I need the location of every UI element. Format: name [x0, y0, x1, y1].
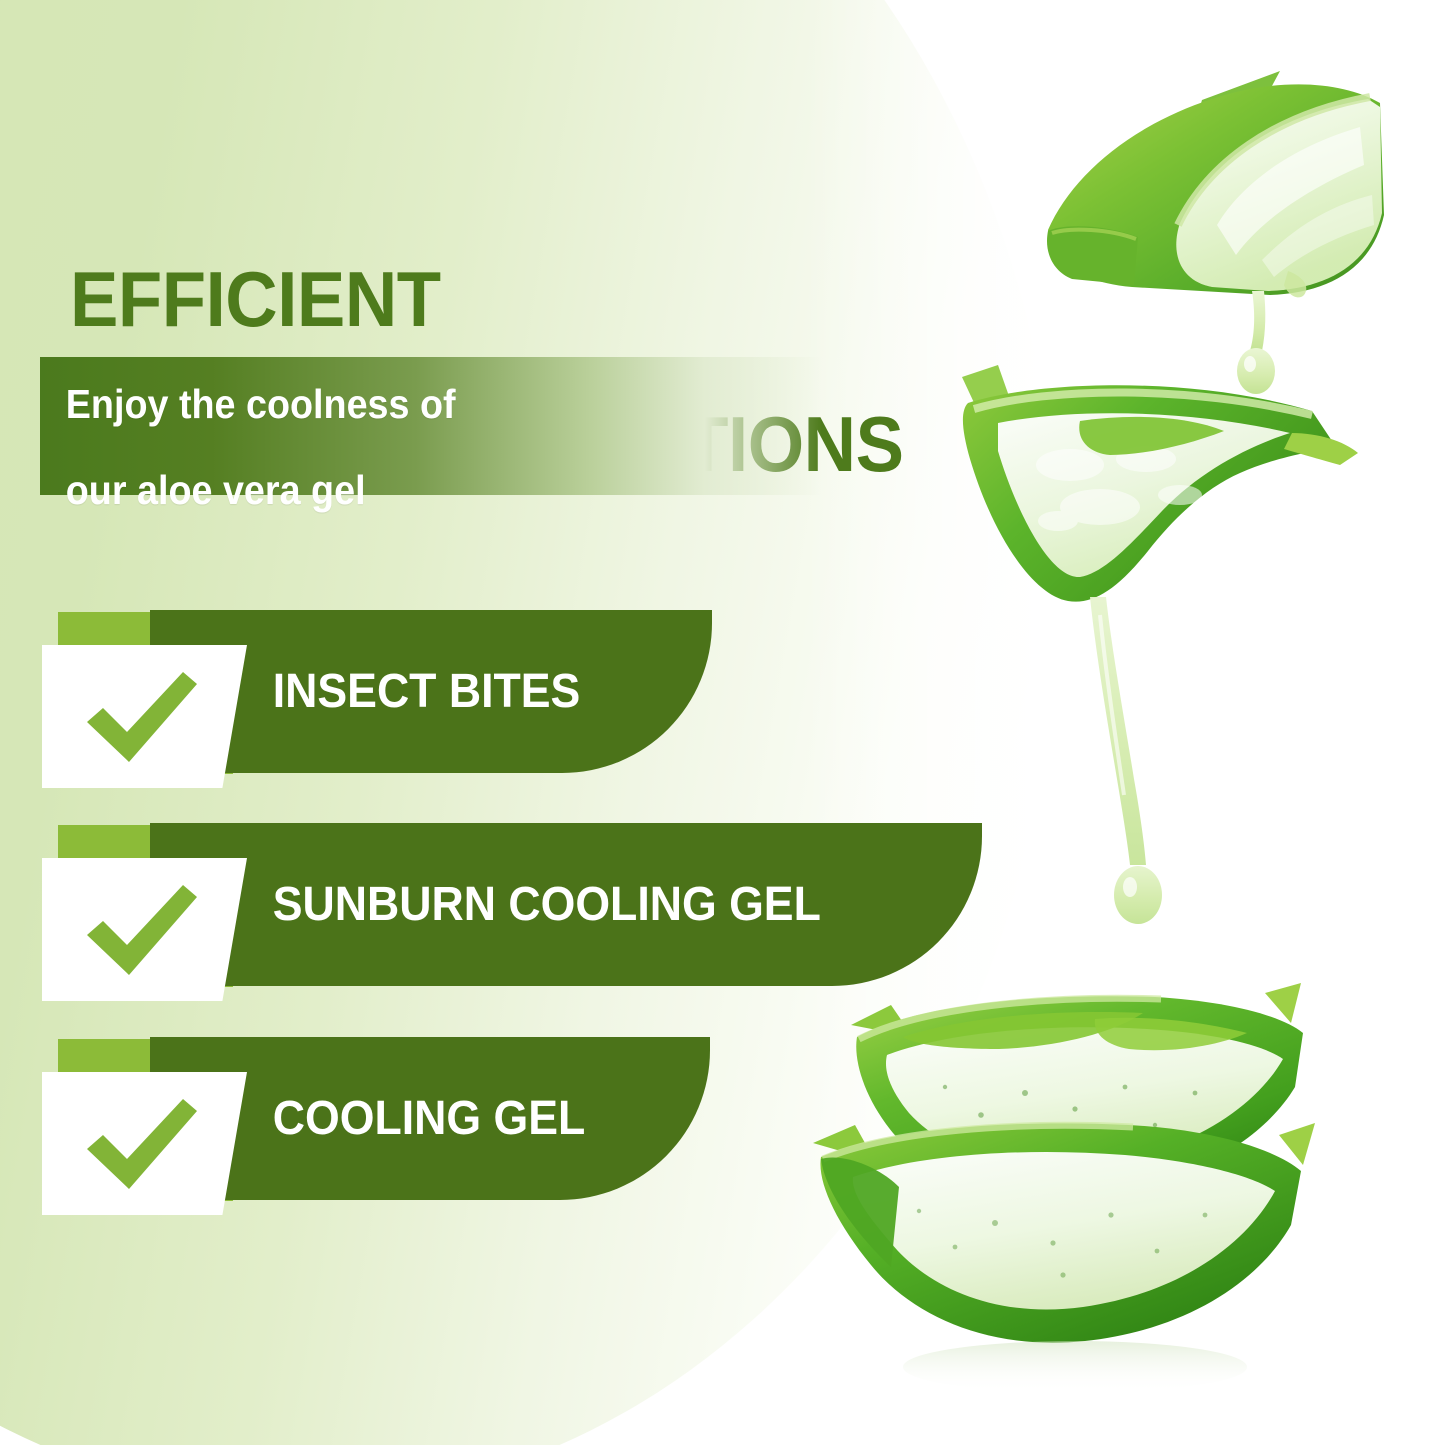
feature-banner: SUNBURN COOLING GEL — [150, 823, 982, 986]
feature-list: INSECT BITES SUNBURN COOLING GEL C — [0, 0, 1445, 1445]
check-icon — [83, 666, 201, 770]
check-card — [42, 1072, 247, 1215]
feature-label: SUNBURN COOLING GEL — [150, 877, 821, 932]
check-card — [42, 645, 247, 788]
check-icon — [83, 879, 201, 983]
poster-canvas: EFFICIENT SKIN CARE SOLUTIONS Enjoy the … — [0, 0, 1445, 1445]
check-card — [42, 858, 247, 1001]
check-icon — [83, 1093, 201, 1197]
